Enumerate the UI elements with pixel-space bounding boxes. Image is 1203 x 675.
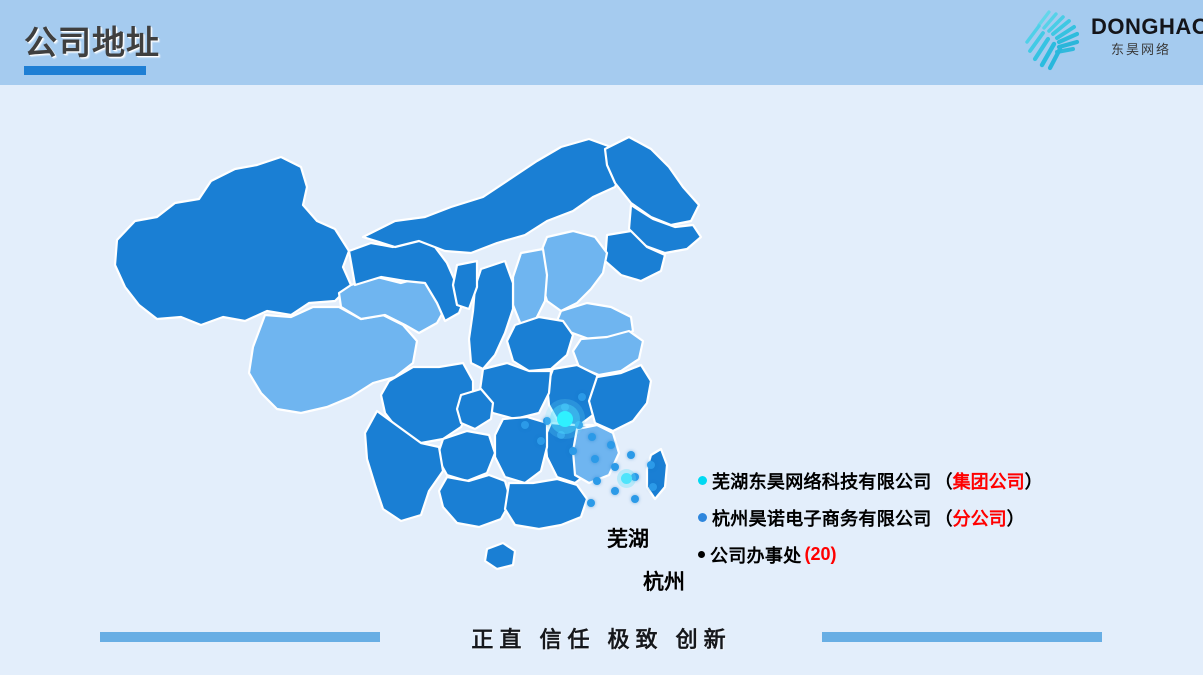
office-marker xyxy=(593,477,601,485)
province-guizhou xyxy=(437,431,495,481)
legend-item-offices: 公司办事处 (20) xyxy=(698,536,1158,573)
office-marker xyxy=(588,433,596,441)
office-marker xyxy=(611,487,619,495)
legend-label-offices: 公司办事处 xyxy=(710,542,802,568)
province-guangdong xyxy=(505,479,587,529)
office-marker xyxy=(569,447,577,455)
legend-tag-close: ） xyxy=(1007,509,1025,529)
legend-bullet-cyan-icon xyxy=(698,476,707,485)
province-hebei xyxy=(539,231,607,311)
office-marker xyxy=(578,393,586,401)
legend-bullet-black-icon xyxy=(698,551,705,558)
company-logo: DONGHAO 东昊网络 xyxy=(1013,6,1193,74)
office-marker xyxy=(607,441,615,449)
province-xinjiang xyxy=(115,157,351,325)
legend-tag-open: （ xyxy=(935,472,953,492)
map-label-hangzhou: 杭州 xyxy=(643,566,685,596)
office-marker xyxy=(631,473,639,481)
office-marker xyxy=(611,463,619,471)
office-marker xyxy=(631,495,639,503)
office-marker xyxy=(627,451,635,459)
legend-tag-group-company: （集团公司） xyxy=(935,468,1043,494)
donghao-wing-logo-icon xyxy=(1019,8,1091,72)
office-marker xyxy=(557,431,565,439)
office-marker xyxy=(591,455,599,463)
china-map: 芜湖 杭州 xyxy=(95,125,735,625)
office-marker xyxy=(561,403,569,411)
province-heilongjiang xyxy=(605,137,699,225)
legend-tag-text: 分公司 xyxy=(953,509,1007,529)
legend-tag-text: (20) xyxy=(805,544,837,564)
legend-item-branch-company: 杭州昊诺电子商务有限公司 （分公司） xyxy=(698,499,1158,536)
office-marker xyxy=(521,421,529,429)
branch-marker-hangzhou xyxy=(621,473,632,484)
legend-label-group-company: 芜湖东昊网络科技有限公司 xyxy=(712,468,932,494)
office-marker xyxy=(575,421,583,429)
logo-wordmark: DONGHAO 东昊网络 xyxy=(1091,16,1191,56)
legend-tag-offices: (20) xyxy=(805,544,837,565)
footer-bar-right xyxy=(822,632,1102,642)
province-guangxi xyxy=(439,475,511,527)
map-label-wuhu: 芜湖 xyxy=(607,523,649,553)
page-header: 公司地址 xyxy=(0,0,1203,85)
office-marker xyxy=(647,461,655,469)
legend-tag-close: ） xyxy=(1025,472,1043,492)
province-taiwan xyxy=(647,449,667,499)
headquarters-marker-wuhu xyxy=(557,411,573,427)
legend-label-branch-company: 杭州昊诺电子商务有限公司 xyxy=(712,505,932,531)
office-marker xyxy=(537,437,545,445)
legend-tag-branch-company: （分公司） xyxy=(935,505,1025,531)
legend-list: 芜湖东昊网络科技有限公司 （集团公司） 杭州昊诺电子商务有限公司 （分公司） 公… xyxy=(698,462,1158,573)
office-marker xyxy=(543,417,551,425)
province-fujian xyxy=(573,425,619,483)
legend-item-group-company: 芜湖东昊网络科技有限公司 （集团公司） xyxy=(698,462,1158,499)
logo-english-name: DONGHAO xyxy=(1091,16,1191,38)
logo-chinese-name: 东昊网络 xyxy=(1091,43,1191,56)
province-hainan xyxy=(485,543,515,569)
province-henan xyxy=(507,317,573,371)
legend-tag-text: 集团公司 xyxy=(953,472,1025,492)
office-marker xyxy=(587,499,595,507)
office-marker xyxy=(649,483,657,491)
legend-tag-open: （ xyxy=(935,509,953,529)
legend-bullet-blue-icon xyxy=(698,513,707,522)
title-underline-accent xyxy=(24,66,146,75)
page-title: 公司地址 xyxy=(24,16,160,64)
province-shanxi xyxy=(513,249,547,325)
